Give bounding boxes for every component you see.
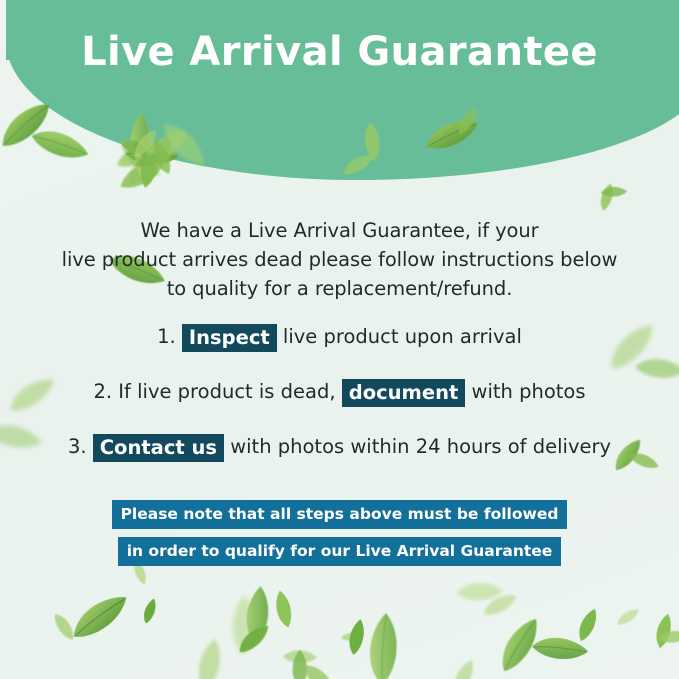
step-highlight-document: document — [342, 379, 466, 407]
leaf-icon — [232, 621, 277, 657]
leaf-icon — [599, 182, 629, 202]
step-number: 1. — [157, 325, 176, 348]
leaf-icon — [613, 606, 643, 628]
step-highlight-contact-us: Contact us — [93, 434, 224, 462]
step-text: live product upon arrival — [283, 325, 522, 348]
intro-paragraph: We have a Live Arrival Guarantee, if you… — [60, 216, 619, 303]
header-curved-band — [6, 0, 679, 180]
note-banner-1: Please note that all steps above must be… — [112, 500, 568, 529]
leaf-icon — [184, 634, 235, 679]
leaf-icon — [299, 656, 341, 679]
step-number: 2. — [93, 380, 112, 403]
leaf-icon — [479, 591, 521, 619]
step-number: 3. — [68, 435, 87, 458]
step-item-3: 3. Contact us with photos within 24 hour… — [0, 430, 679, 485]
leaf-icon — [339, 629, 364, 646]
step-text: with photos within 24 hours of delivery — [230, 435, 611, 458]
steps-list: 1. Inspect live product upon arrival 2. … — [0, 320, 679, 485]
leaf-icon — [280, 643, 319, 672]
leaf-icon — [272, 589, 295, 629]
step-item-1: 1. Inspect live product upon arrival — [0, 320, 679, 375]
notes-section: Please note that all steps above must be… — [0, 500, 679, 574]
intro-line-3: to quality for a replacement/refund. — [60, 274, 619, 303]
leaf-icon — [353, 608, 415, 679]
note-row-1: Please note that all steps above must be… — [0, 500, 679, 529]
leaf-icon — [647, 611, 679, 652]
leaf-icon — [569, 605, 607, 645]
step-item-2: 2. If live product is dead, document wit… — [0, 375, 679, 430]
leaf-icon — [219, 591, 269, 659]
page-title: Live Arrival Guarantee — [0, 29, 679, 75]
leaf-icon — [657, 626, 679, 648]
leaf-icon — [133, 151, 151, 184]
leaf-icon — [284, 647, 315, 679]
step-text-before: If live product is dead, — [118, 380, 335, 403]
note-banner-2: in order to qualify for our Live Arrival… — [118, 537, 562, 566]
leaf-icon — [115, 157, 169, 193]
leaf-icon — [486, 612, 555, 679]
leaf-icon — [136, 596, 163, 626]
leaf-icon — [593, 181, 621, 214]
leaf-icon — [444, 656, 485, 679]
leaf-icon — [528, 624, 593, 674]
leaf-icon — [454, 574, 507, 610]
intro-line-2: live product arrives dead please follow … — [60, 245, 619, 274]
leaf-icon — [51, 609, 77, 645]
leaf-icon — [62, 589, 137, 646]
intro-line-1: We have a Live Arrival Guarantee, if you… — [60, 216, 619, 245]
leaf-icon — [232, 582, 283, 648]
step-highlight-inspect: Inspect — [182, 324, 277, 352]
note-row-2: in order to qualify for our Live Arrival… — [0, 537, 679, 566]
poster-canvas: Live Arrival Guarantee — [0, 0, 679, 679]
leaf-icon — [340, 616, 375, 658]
step-text: with photos — [472, 380, 586, 403]
